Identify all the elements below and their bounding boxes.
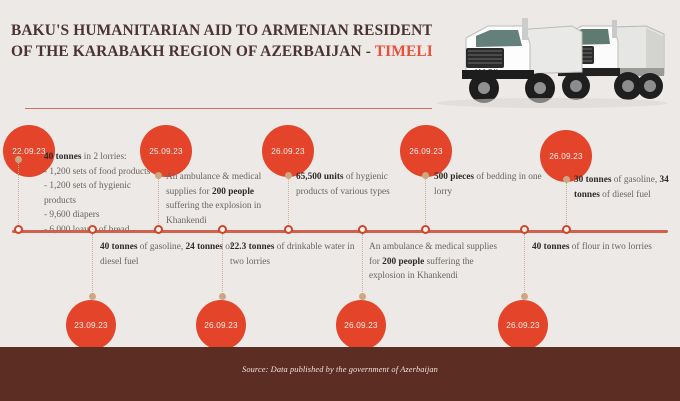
stem-knob-upper-1: [15, 156, 22, 163]
axis-marker[interactable]: [562, 225, 571, 234]
entry-upper-2: An ambulance & medical supplies for 200 …: [166, 170, 284, 228]
date-label: 26.09.23: [344, 321, 377, 330]
entry-text: suffering the explosion in Khankendi: [166, 201, 261, 226]
date-label: 25.09.23: [149, 147, 182, 156]
stem-knob-lower-2: [219, 293, 226, 300]
date-label: 26.09.23: [271, 147, 304, 156]
source-note: Source: Data published by the government…: [0, 365, 680, 374]
stem-knob-upper-5: [563, 176, 570, 183]
entry-upper-1-bullets: - 1,200 sets of food products - 1,200 se…: [44, 165, 169, 238]
date-label: 26.09.23: [409, 147, 442, 156]
entry-lower-2: 22.3 tonnes of drinkable water in two lo…: [230, 240, 358, 269]
stem-knob-upper-2: [155, 172, 162, 179]
entry-emphasis: 200 people: [382, 257, 424, 267]
stem-knob-upper-4: [422, 172, 429, 179]
stem-upper-5: [566, 180, 567, 228]
list-item: - 9,600 diapers: [44, 208, 169, 223]
stem-knob-lower-4: [521, 293, 528, 300]
axis-marker[interactable]: [218, 225, 227, 234]
axis-marker[interactable]: [14, 225, 23, 234]
entry-emphasis: 65,500 units: [296, 172, 344, 182]
axis-marker[interactable]: [421, 225, 430, 234]
title-line-1: BAKU'S HUMANITARIAN AID TO ARMENIAN RESI…: [11, 22, 442, 39]
title-line-2: OF THE KARABAKH REGION OF AZERBAIJAN - T…: [11, 41, 461, 62]
entry-text: of gasoline,: [137, 242, 185, 252]
trucks-photo: MACK: [432, 2, 680, 110]
stem-lower-4: [524, 234, 525, 296]
list-item: - 1,200 sets of hygienic: [44, 179, 169, 194]
date-bubble-lower-1[interactable]: 23.09.23: [66, 300, 116, 350]
list-item: products: [44, 194, 169, 209]
entry-emphasis: 500 pieces: [434, 172, 474, 182]
entry-upper-4: 500 pieces of bedding in one lorry: [434, 170, 552, 199]
axis-marker[interactable]: [284, 225, 293, 234]
title-line-2-main: OF THE KARABAKH REGION OF AZERBAIJAN -: [11, 43, 375, 60]
entry-emphasis: 40 tonnes: [100, 242, 137, 252]
footer-band: Source: Data published by the government…: [0, 347, 680, 401]
stem-lower-2: [222, 234, 223, 296]
entry-lower-3: An ambulance & medical supplies for 200 …: [369, 240, 505, 284]
entry-text: of diesel fuel: [600, 190, 651, 200]
entry-upper-3: 65,500 units of hygienic products of var…: [296, 170, 414, 199]
axis-marker[interactable]: [154, 225, 163, 234]
stem-knob-lower-1: [89, 293, 96, 300]
date-label: 22.09.23: [12, 147, 45, 156]
two-trucks-icon: MACK: [432, 2, 680, 110]
entry-emphasis: 24 tonnes: [185, 242, 222, 252]
date-bubble-lower-2[interactable]: 26.09.23: [196, 300, 246, 350]
stem-knob-lower-3: [359, 293, 366, 300]
stem-upper-1: [18, 160, 19, 228]
entry-upper-1-lead-tail: in 2 lorries:: [81, 152, 126, 162]
stem-lower-3: [362, 234, 363, 296]
entry-emphasis: 22.3 tonnes: [230, 242, 274, 252]
date-label: 26.09.23: [506, 321, 539, 330]
entry-lower-1: 40 tonnes of gasoline, 24 tonnes of dies…: [100, 240, 240, 269]
entry-text: An ambulance & medical: [166, 172, 261, 182]
entry-text: of gasoline,: [611, 175, 659, 185]
date-bubble-lower-3[interactable]: 26.09.23: [336, 300, 386, 350]
stem-upper-2: [158, 176, 159, 228]
axis-marker[interactable]: [520, 225, 529, 234]
date-label: 23.09.23: [74, 321, 107, 330]
entry-upper-1-amount: 40 tonnes: [44, 152, 81, 162]
date-label: 26.09.23: [549, 152, 582, 161]
entry-text: of flour in two lorries: [569, 242, 651, 252]
axis-marker[interactable]: [88, 225, 97, 234]
entry-emphasis: 200 people: [212, 187, 254, 197]
date-label: 26.09.23: [204, 321, 237, 330]
entry-emphasis: 40 tonnes: [532, 242, 569, 252]
infographic-canvas: BAKU'S HUMANITARIAN AID TO ARMENIAN RESI…: [0, 0, 680, 401]
entry-text: supplies for: [166, 187, 212, 197]
entry-lower-4: 40 tonnes of flour in two lorries: [532, 240, 662, 255]
axis-marker[interactable]: [358, 225, 367, 234]
stem-knob-upper-3: [285, 172, 292, 179]
entry-emphasis: 30 tonnes: [574, 175, 611, 185]
stem-lower-1: [92, 234, 93, 296]
stem-upper-3: [288, 176, 289, 228]
date-bubble-lower-4[interactable]: 26.09.23: [498, 300, 548, 350]
entry-upper-5: 30 tonnes of gasoline, 34 tonnes of dies…: [574, 173, 680, 202]
page-title: BAKU'S HUMANITARIAN AID TO ARMENIAN RESI…: [11, 20, 461, 62]
stem-upper-4: [425, 176, 426, 228]
